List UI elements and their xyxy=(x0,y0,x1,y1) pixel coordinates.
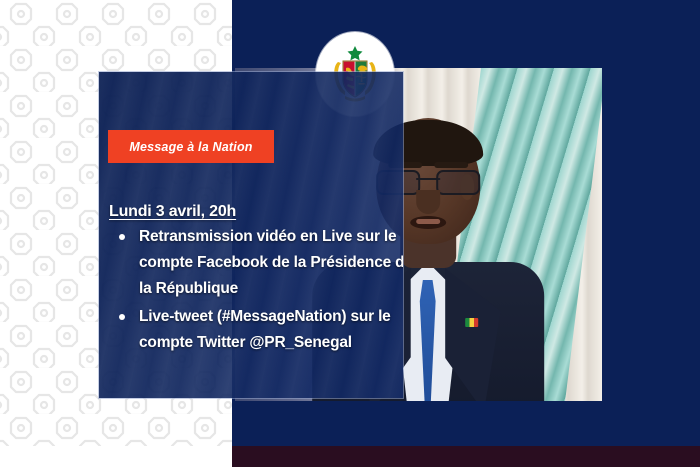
list-item: Retransmission vidéo en Live sur le comp… xyxy=(139,224,403,302)
eyebrow-right xyxy=(434,162,468,168)
broadcast-details-list: Retransmission vidéo en Live sur le comp… xyxy=(117,224,403,358)
flag-lapel-pin-icon xyxy=(465,318,478,327)
bottom-left-edge xyxy=(0,446,232,467)
poster-canvas: Message à la Nation Lundi 3 avril, 20h R… xyxy=(0,0,700,467)
date-heading: Lundi 3 avril, 20h xyxy=(109,203,236,221)
message-badge: Message à la Nation xyxy=(108,130,274,163)
mouth xyxy=(410,216,446,229)
nose xyxy=(416,190,440,214)
list-item: Live-tweet (#MessageNation) sur le compt… xyxy=(139,304,403,356)
bottom-dark-edge xyxy=(232,446,700,467)
message-badge-label: Message à la Nation xyxy=(129,140,252,154)
lens-right xyxy=(436,170,480,195)
announcement-panel: Message à la Nation Lundi 3 avril, 20h R… xyxy=(99,72,403,398)
